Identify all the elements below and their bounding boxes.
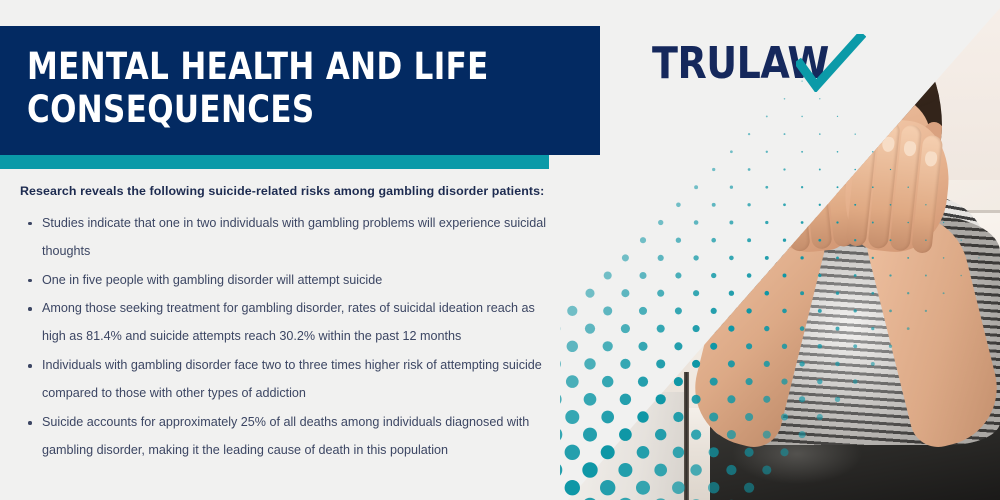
title-banner: Mental Health and Life Consequences	[0, 26, 600, 155]
check-icon	[796, 34, 866, 92]
list-item: Individuals with gambling disorder face …	[20, 352, 560, 408]
page-title: Mental Health and Life Consequences	[27, 46, 529, 132]
list-item: Among those seeking treatment for gambli…	[20, 295, 560, 351]
lead-paragraph: Research reveals the following suicide-r…	[20, 183, 560, 201]
content-block: Research reveals the following suicide-r…	[20, 183, 560, 466]
list-item: Suicide accounts for approximately 25% o…	[20, 409, 560, 465]
radiator-pipe	[684, 372, 689, 500]
accent-bar	[0, 155, 549, 169]
list-item: Studies indicate that one in two individ…	[20, 210, 560, 266]
list-item: One in five people with gambling disorde…	[20, 267, 560, 295]
radiator	[568, 392, 688, 500]
risk-bullet-list: Studies indicate that one in two individ…	[20, 210, 560, 466]
infographic-canvas: Mental Health and Life Consequences TRUL…	[0, 0, 1000, 500]
trulaw-logo[interactable]: TRULAW	[652, 34, 862, 94]
